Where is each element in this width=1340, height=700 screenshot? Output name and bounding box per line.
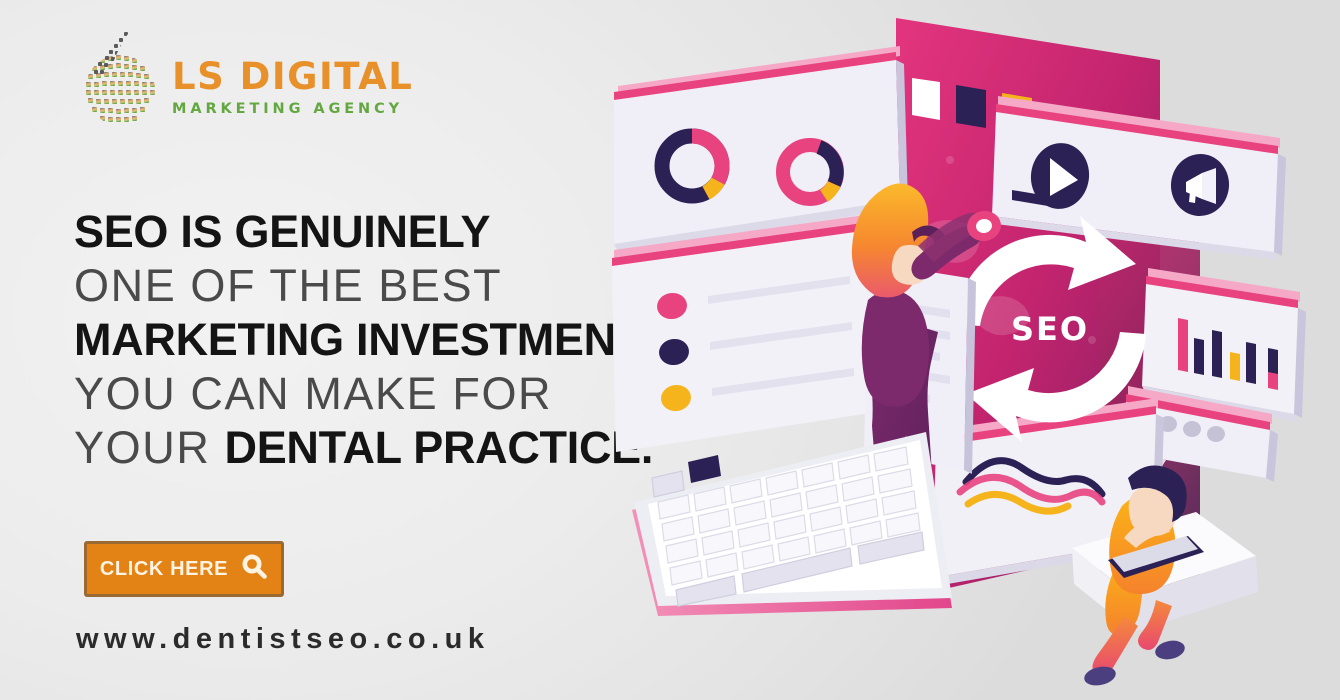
headline-line-5-bold: DENTAL PRACTICE.: [225, 422, 654, 473]
keyboard-highlight-key: [688, 455, 721, 483]
seo-illustration: SEO: [600, 0, 1340, 700]
brand-logo[interactable]: LS DIGITAL MARKETING AGENCY: [74, 24, 404, 134]
seo-badge-label: SEO: [1011, 310, 1089, 348]
search-icon: [241, 553, 268, 585]
cta-label: CLICK HERE: [100, 558, 228, 581]
headline-line-5-light: YOUR: [74, 422, 225, 473]
keyboard-illustration: [632, 432, 952, 616]
website-url[interactable]: www.dentistseo.co.uk: [76, 623, 489, 656]
click-here-button[interactable]: CLICK HERE: [84, 541, 284, 597]
logo-primary-text: LS DIGITAL: [172, 58, 404, 95]
dotted-sphere-icon: [74, 28, 170, 132]
marketing-banner: LS DIGITAL MARKETING AGENCY SEO IS GENUI…: [0, 0, 1340, 700]
logo-secondary-text: MARKETING AGENCY: [172, 102, 404, 117]
